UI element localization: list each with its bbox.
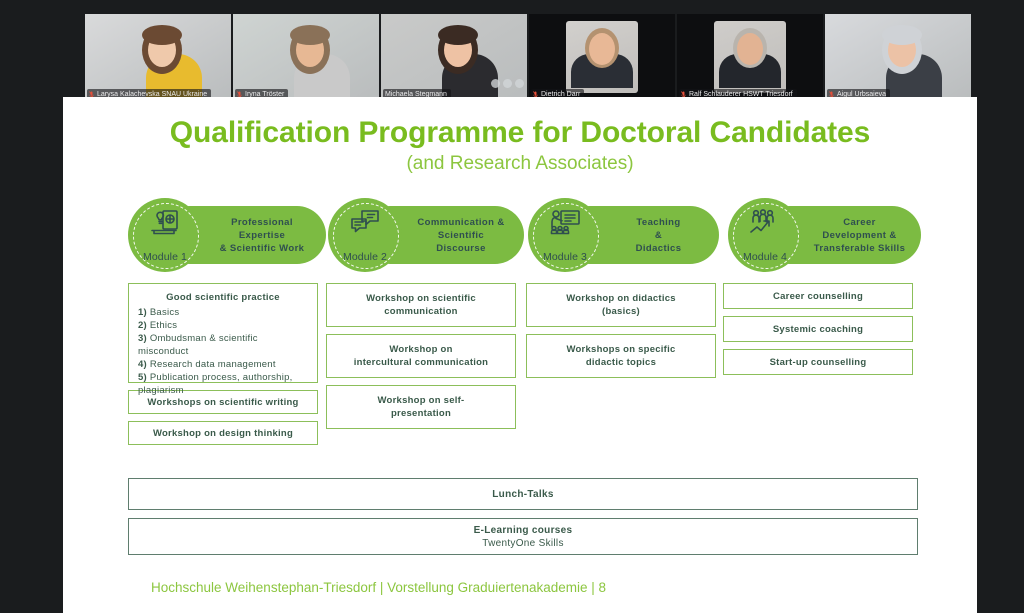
module-title-line: Transferable Skills (807, 242, 912, 255)
module-badge-4[interactable]: CareerDevelopment &Transferable SkillsMo… (728, 198, 921, 272)
topic-box-line: intercultural communication (354, 356, 489, 369)
topic-box-line: didactic topics (566, 356, 675, 369)
module-circle: Module 3 (528, 198, 602, 272)
module-label: Module 4 (743, 251, 787, 263)
module-title-line: Scientific (407, 229, 515, 242)
more-options-icon[interactable] (515, 79, 524, 88)
module-label: Module 1 (143, 251, 187, 263)
participant-tile[interactable]: Michaela Stegmann (381, 14, 527, 102)
topic-box-line: communication (366, 305, 476, 318)
page-title: Qualification Programme for Doctoral Can… (63, 116, 977, 150)
module-badge-3[interactable]: Teaching&DidacticsModule 3 (528, 198, 719, 272)
module-title-line: Development & (807, 229, 912, 242)
module-title-line: Discourse (407, 242, 515, 255)
topic-box-line: Workshops on specific (566, 343, 675, 356)
topic-list-item: 1) Basics (138, 306, 308, 319)
column-4: Career counsellingSystemic coachingStart… (723, 283, 913, 382)
column-1: Good scientific practice1) Basics2) Ethi… (128, 283, 318, 452)
topic-box-line: (basics) (566, 305, 676, 318)
topic-box-line: Workshop on design thinking (153, 427, 293, 440)
topic-box-line: Career counselling (773, 290, 863, 303)
topic-box: Workshop on self-presentation (326, 385, 516, 429)
topic-box: Workshop onintercultural communication (326, 334, 516, 378)
topic-box: Career counselling (723, 283, 913, 309)
topic-list-item: 3) Ombudsman & scientific misconduct (138, 332, 308, 358)
module-label: Module 2 (343, 251, 387, 263)
slide-footer: Hochschule Weihenstephan-Triesdorf | Vor… (151, 580, 606, 595)
module-circle: Module 4 (728, 198, 802, 272)
participant-tile[interactable]: Ralf Schlauderer HSWT Triesdorf (677, 14, 823, 102)
avatar (714, 21, 786, 93)
topic-list-item: 4) Research data management (138, 358, 308, 371)
module-row: ProfessionalExpertise& Scientific WorkMo… (128, 198, 918, 272)
module-title-line: & (607, 229, 710, 242)
module-icon (350, 209, 380, 240)
screen: Larysa Kalachevska SNAU UkraineIryna Trö… (0, 0, 1024, 613)
topic-box-line: Workshop on (354, 343, 489, 356)
participant-tile[interactable]: Larysa Kalachevska SNAU Ukraine (85, 14, 231, 102)
module-circle: Module 2 (328, 198, 402, 272)
topic-box: Workshop on didactics(basics) (526, 283, 716, 327)
module-badge-1[interactable]: ProfessionalExpertise& Scientific WorkMo… (128, 198, 326, 272)
avatar (566, 21, 638, 93)
topic-box-line: Systemic coaching (773, 323, 863, 336)
topic-box: Start-up counselling (723, 349, 913, 375)
module-label: Module 3 (543, 251, 587, 263)
module-title-line: Didactics (607, 242, 710, 255)
topic-box-line: Workshop on scientific (366, 292, 476, 305)
module-title-line: Teaching (607, 216, 710, 229)
topic-heading: Good scientific practice (138, 291, 308, 304)
topic-box: Systemic coaching (723, 316, 913, 342)
module-icon (150, 209, 180, 242)
module-badge-2[interactable]: Communication &ScientificDiscourseModule… (328, 198, 524, 272)
module-title-line: & Scientific Work (207, 242, 317, 255)
topic-box-line: Workshops on scientific writing (147, 396, 298, 409)
participant-tile[interactable]: Dietrich Darr (529, 14, 675, 102)
module-circle: Module 1 (128, 198, 202, 272)
wide-row-title: E-Learning courses (474, 525, 573, 536)
presenter-board-icon (549, 209, 581, 235)
column-2: Workshop on scientificcommunicationWorks… (326, 283, 516, 436)
video-toggle-icon[interactable] (491, 79, 500, 88)
topic-box: Workshops on specificdidactic topics (526, 334, 716, 378)
page-subtitle: (and Research Associates) (63, 153, 977, 175)
topic-list-item: 2) Ethics (138, 319, 308, 332)
video-filmstrip: Larysa Kalachevska SNAU UkraineIryna Trö… (85, 14, 965, 102)
wide-row-title: Lunch-Talks (492, 489, 553, 500)
module-title-line: Communication & (407, 216, 515, 229)
speech-bubbles-icon (350, 209, 380, 235)
topic-box-line: Start-up counselling (770, 356, 867, 369)
module-icon (749, 209, 781, 240)
topic-box-line: Workshop on self- (378, 394, 465, 407)
book-lightbulb-gear-icon (150, 209, 180, 237)
topic-box: Workshop on scientificcommunication (326, 283, 516, 327)
participant-tile[interactable]: Aigul Urbsaieva (825, 14, 971, 102)
wide-row-subtitle: TwentyOne Skills (482, 538, 564, 549)
presentation-slide: Qualification Programme for Doctoral Can… (63, 97, 977, 613)
topic-box-line: presentation (378, 407, 465, 420)
topic-box: Workshop on design thinking (128, 421, 318, 445)
tile-controls[interactable] (491, 79, 524, 88)
module-icon (549, 209, 581, 240)
module-title-line: Expertise (207, 229, 317, 242)
topic-list-box: Good scientific practice1) Basics2) Ethi… (128, 283, 318, 383)
module-title-line: Career (807, 216, 912, 229)
people-growth-arrow-icon (749, 209, 781, 235)
wide-row: Lunch-Talks (128, 478, 918, 510)
mic-toggle-icon[interactable] (503, 79, 512, 88)
participant-tile[interactable]: Iryna Tröster (233, 14, 379, 102)
column-3: Workshop on didactics(basics)Workshops o… (526, 283, 716, 385)
wide-row: E-Learning coursesTwentyOne Skills (128, 518, 918, 555)
module-title-line: Professional (207, 216, 317, 229)
topic-box-line: Workshop on didactics (566, 292, 676, 305)
